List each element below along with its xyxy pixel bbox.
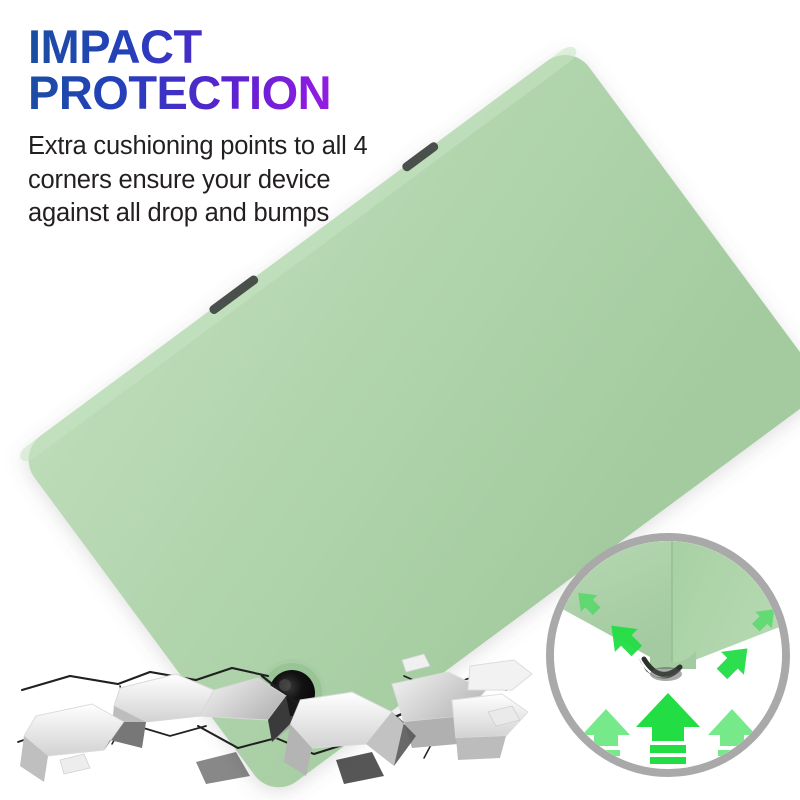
copy-block: IMPACT PROTECTION Extra cushioning point…: [28, 24, 378, 231]
page-title: IMPACT PROTECTION: [28, 24, 378, 116]
product-feature-image: IMPACT PROTECTION Extra cushioning point…: [0, 0, 800, 800]
camera-lens-glint: [279, 679, 291, 691]
inset-svg: [554, 541, 782, 769]
magnifier-clip: [554, 541, 782, 769]
magnifier-inset: [546, 533, 790, 777]
body-description: Extra cushioning points to all 4 corners…: [28, 130, 378, 231]
